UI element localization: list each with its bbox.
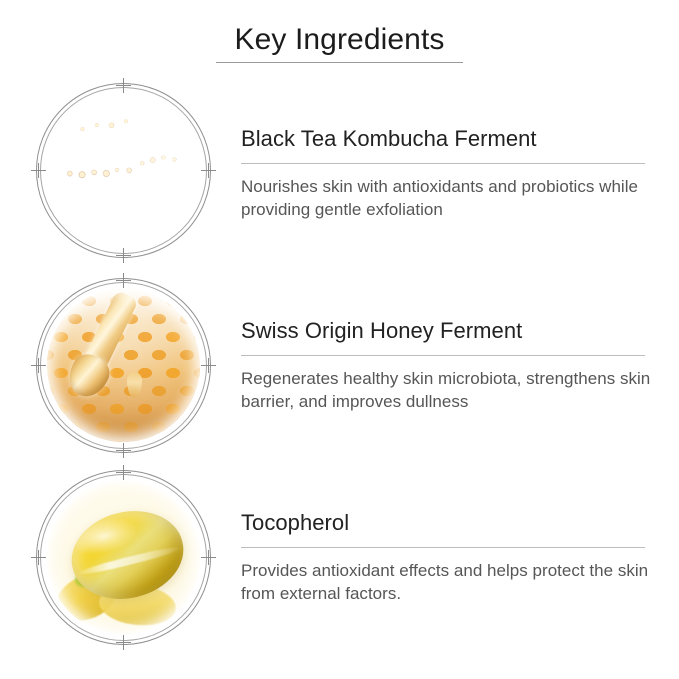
ingredient-description: Regenerates healthy skin microbiota, str… — [241, 367, 653, 413]
dish-crosshair-north-icon — [116, 78, 131, 93]
softgel-capsule-seam — [78, 543, 181, 577]
ingredient-divider — [241, 163, 645, 164]
ingredient-info-3: Tocopherol Provides antioxidant effects … — [241, 509, 653, 605]
ingredient-row-1: Black Tea Kombucha Ferment Nourishes ski… — [0, 75, 679, 270]
ingredient-description: Provides antioxidant effects and helps p… — [241, 559, 653, 605]
page-title-underline — [216, 62, 463, 63]
kombucha-culture-image — [47, 94, 200, 247]
dish-crosshair-north-icon — [116, 465, 131, 480]
dish-crosshair-east-icon — [201, 163, 216, 178]
dish-media-tocopherol — [47, 481, 200, 634]
dish-crosshair-south-icon — [116, 443, 131, 458]
ingredient-divider — [241, 547, 645, 548]
dish-crosshair-south-icon — [116, 635, 131, 650]
petri-dish-black-tea-kombucha — [36, 83, 211, 258]
ingredient-name: Tocopherol — [241, 509, 653, 537]
softgel-capsule-image — [47, 481, 200, 634]
kombucha-bubble-band-secondary — [65, 106, 189, 140]
ingredient-info-2: Swiss Origin Honey Ferment Regenerates h… — [241, 317, 653, 413]
ingredient-description: Nourishes skin with antioxidants and pro… — [241, 175, 653, 221]
page-title-block: Key Ingredients — [0, 22, 679, 63]
ingredient-name: Swiss Origin Honey Ferment — [241, 317, 653, 345]
dish-crosshair-east-icon — [201, 550, 216, 565]
key-ingredients-infographic: Key Ingredients Black Tea Kombucha Ferme… — [0, 0, 679, 679]
page-title: Key Ingredients — [0, 22, 679, 58]
dish-media-kombucha — [47, 94, 200, 247]
petri-dish-tocopherol — [36, 470, 211, 645]
honeycomb-image — [47, 289, 200, 442]
ingredient-divider — [241, 355, 645, 356]
kombucha-bubble-band — [55, 151, 191, 185]
dish-crosshair-west-icon — [31, 358, 46, 373]
dish-media-honey — [47, 289, 200, 442]
ingredient-row-3: Tocopherol Provides antioxidant effects … — [0, 462, 679, 657]
dish-crosshair-west-icon — [31, 163, 46, 178]
honey-drip — [127, 372, 142, 398]
ingredient-name: Black Tea Kombucha Ferment — [241, 125, 653, 153]
ingredient-row-2: Swiss Origin Honey Ferment Regenerates h… — [0, 270, 679, 465]
dish-crosshair-north-icon — [116, 273, 131, 288]
dish-crosshair-east-icon — [201, 358, 216, 373]
dish-crosshair-west-icon — [31, 550, 46, 565]
petri-dish-swiss-honey — [36, 278, 211, 453]
ingredient-info-1: Black Tea Kombucha Ferment Nourishes ski… — [241, 125, 653, 221]
dish-crosshair-south-icon — [116, 248, 131, 263]
